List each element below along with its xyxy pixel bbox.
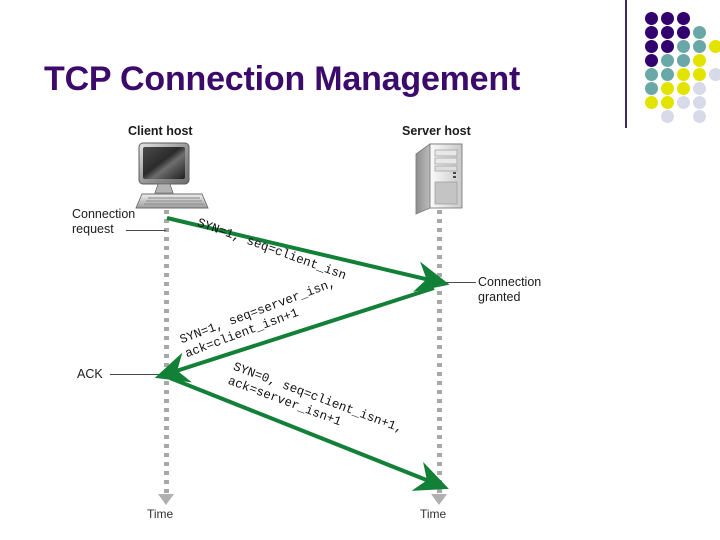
decorative-dot xyxy=(645,96,658,109)
decorative-dot xyxy=(661,68,674,81)
decorative-dot xyxy=(661,40,674,53)
decorative-dot xyxy=(645,68,658,81)
decorative-dot xyxy=(661,82,674,95)
decorative-dot xyxy=(677,68,690,81)
decorative-dot xyxy=(645,12,658,25)
decorative-dot xyxy=(677,82,690,95)
decorative-dot xyxy=(693,82,706,95)
decorative-dot xyxy=(709,40,720,53)
decorative-dot xyxy=(677,12,690,25)
decorative-dot xyxy=(693,96,706,109)
decorative-dot xyxy=(677,54,690,67)
decorative-dot xyxy=(645,82,658,95)
decorative-dot xyxy=(661,12,674,25)
decorative-dot xyxy=(677,26,690,39)
decorative-dot xyxy=(661,110,674,123)
decorative-dot xyxy=(677,40,690,53)
decorative-dot xyxy=(693,26,706,39)
decorative-dot xyxy=(661,54,674,67)
slide-canvas: TCP Connection Management Client host Se… xyxy=(0,0,720,540)
decorative-dot xyxy=(661,26,674,39)
decorative-dot xyxy=(693,40,706,53)
header-divider-line xyxy=(625,0,627,128)
page-title: TCP Connection Management xyxy=(44,60,614,99)
message-arrows-layer xyxy=(0,112,620,532)
decorative-dot xyxy=(645,40,658,53)
decorative-dot xyxy=(645,54,658,67)
decorative-dot xyxy=(677,96,690,109)
decorative-dot xyxy=(645,26,658,39)
decorative-dot xyxy=(709,68,720,81)
tcp-handshake-diagram: Client host Server host xyxy=(0,112,620,532)
decorative-dot-grid xyxy=(645,12,717,116)
decorative-dot xyxy=(693,68,706,81)
decorative-dot xyxy=(693,54,706,67)
decorative-dot xyxy=(661,96,674,109)
decorative-dot xyxy=(693,110,706,123)
